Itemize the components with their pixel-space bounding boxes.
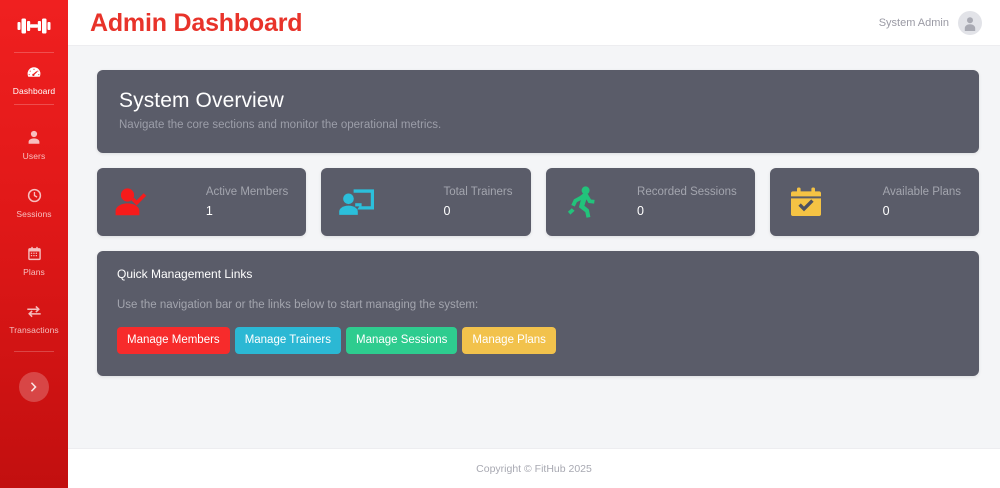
manage-sessions-button[interactable]: Manage Sessions [346, 327, 457, 354]
calendar-icon [27, 245, 42, 262]
sidebar-toggle-wrap [0, 372, 68, 402]
stats-row: Active Members 1 [97, 168, 979, 236]
stat-card-available-plans[interactable]: Available Plans 0 [770, 168, 979, 236]
stat-text: Active Members 1 [206, 185, 290, 219]
quick-links-buttons: Manage Members Manage Trainers Manage Se… [117, 327, 959, 354]
chevron-right-icon [29, 381, 39, 393]
stat-text: Recorded Sessions 0 [637, 185, 739, 219]
stat-label: Active Members [206, 185, 288, 200]
sidebar-item-label: Users [23, 151, 46, 161]
sidebar-divider-bottom [14, 351, 54, 352]
stat-card-total-trainers[interactable]: Total Trainers 0 [321, 168, 530, 236]
sidebar-item-sessions[interactable]: Sessions [0, 180, 68, 225]
avatar[interactable] [958, 11, 982, 35]
system-overview-panel: System Overview Navigate the core sectio… [97, 70, 979, 153]
sidebar-divider-top [14, 52, 54, 53]
stat-value: 0 [443, 203, 512, 219]
stat-text: Total Trainers 0 [443, 185, 514, 219]
quick-links-description: Use the navigation bar or the links belo… [117, 298, 959, 313]
app-root: Dashboard Users Sessions [0, 0, 1000, 488]
chalkboard-teacher-icon [337, 182, 377, 222]
stat-card-active-members[interactable]: Active Members 1 [97, 168, 306, 236]
quick-management-links-panel: Quick Management Links Use the navigatio… [97, 251, 979, 376]
user-check-icon [113, 182, 153, 222]
manage-plans-button[interactable]: Manage Plans [462, 327, 556, 354]
sidebar-item-label: Dashboard [13, 86, 55, 96]
sidebar-item-label: Sessions [16, 209, 51, 219]
sidebar-item-label: Transactions [9, 325, 59, 335]
user-name-label: System Admin [879, 17, 949, 29]
sidebar-toggle-button[interactable] [19, 372, 49, 402]
sidebar-item-label: Plans [23, 267, 45, 277]
footer-copyright: Copyright © FitHub 2025 [476, 463, 592, 475]
topbar: Admin Dashboard System Admin [68, 0, 1000, 46]
hero-title: System Overview [119, 88, 957, 114]
calendar-check-icon [786, 182, 826, 222]
hero-subtitle: Navigate the core sections and monitor t… [119, 118, 957, 133]
stat-label: Recorded Sessions [637, 185, 737, 200]
sidebar: Dashboard Users Sessions [0, 0, 68, 488]
manage-trainers-button[interactable]: Manage Trainers [235, 327, 341, 354]
footer: Copyright © FitHub 2025 [68, 448, 1000, 488]
content-area: System Overview Navigate the core sectio… [68, 46, 1000, 448]
topbar-user[interactable]: System Admin [879, 11, 982, 35]
brand-logo[interactable] [0, 6, 68, 46]
sidebar-divider-mid [14, 104, 54, 105]
sidebar-item-users[interactable]: Users [0, 122, 68, 167]
clock-icon [27, 187, 42, 204]
stat-value: 1 [206, 203, 288, 219]
stat-label: Total Trainers [443, 185, 512, 200]
sidebar-item-dashboard[interactable]: Dashboard [0, 57, 68, 102]
speedometer-icon [26, 64, 42, 81]
stat-card-recorded-sessions[interactable]: Recorded Sessions 0 [546, 168, 755, 236]
sidebar-item-transactions[interactable]: Transactions [0, 296, 68, 341]
dumbbell-icon [17, 15, 51, 37]
quick-links-title: Quick Management Links [117, 266, 959, 282]
main-area: Admin Dashboard System Admin System Over… [68, 0, 1000, 488]
stat-value: 0 [637, 203, 737, 219]
manage-members-button[interactable]: Manage Members [117, 327, 230, 354]
stat-text: Available Plans 0 [883, 185, 963, 219]
user-icon [27, 129, 41, 146]
stat-label: Available Plans [883, 185, 961, 200]
sidebar-item-plans[interactable]: Plans [0, 238, 68, 283]
exchange-icon [26, 303, 42, 320]
user-avatar-icon [962, 15, 978, 31]
running-person-icon [562, 182, 602, 222]
page-title: Admin Dashboard [90, 9, 302, 37]
stat-value: 0 [883, 203, 961, 219]
